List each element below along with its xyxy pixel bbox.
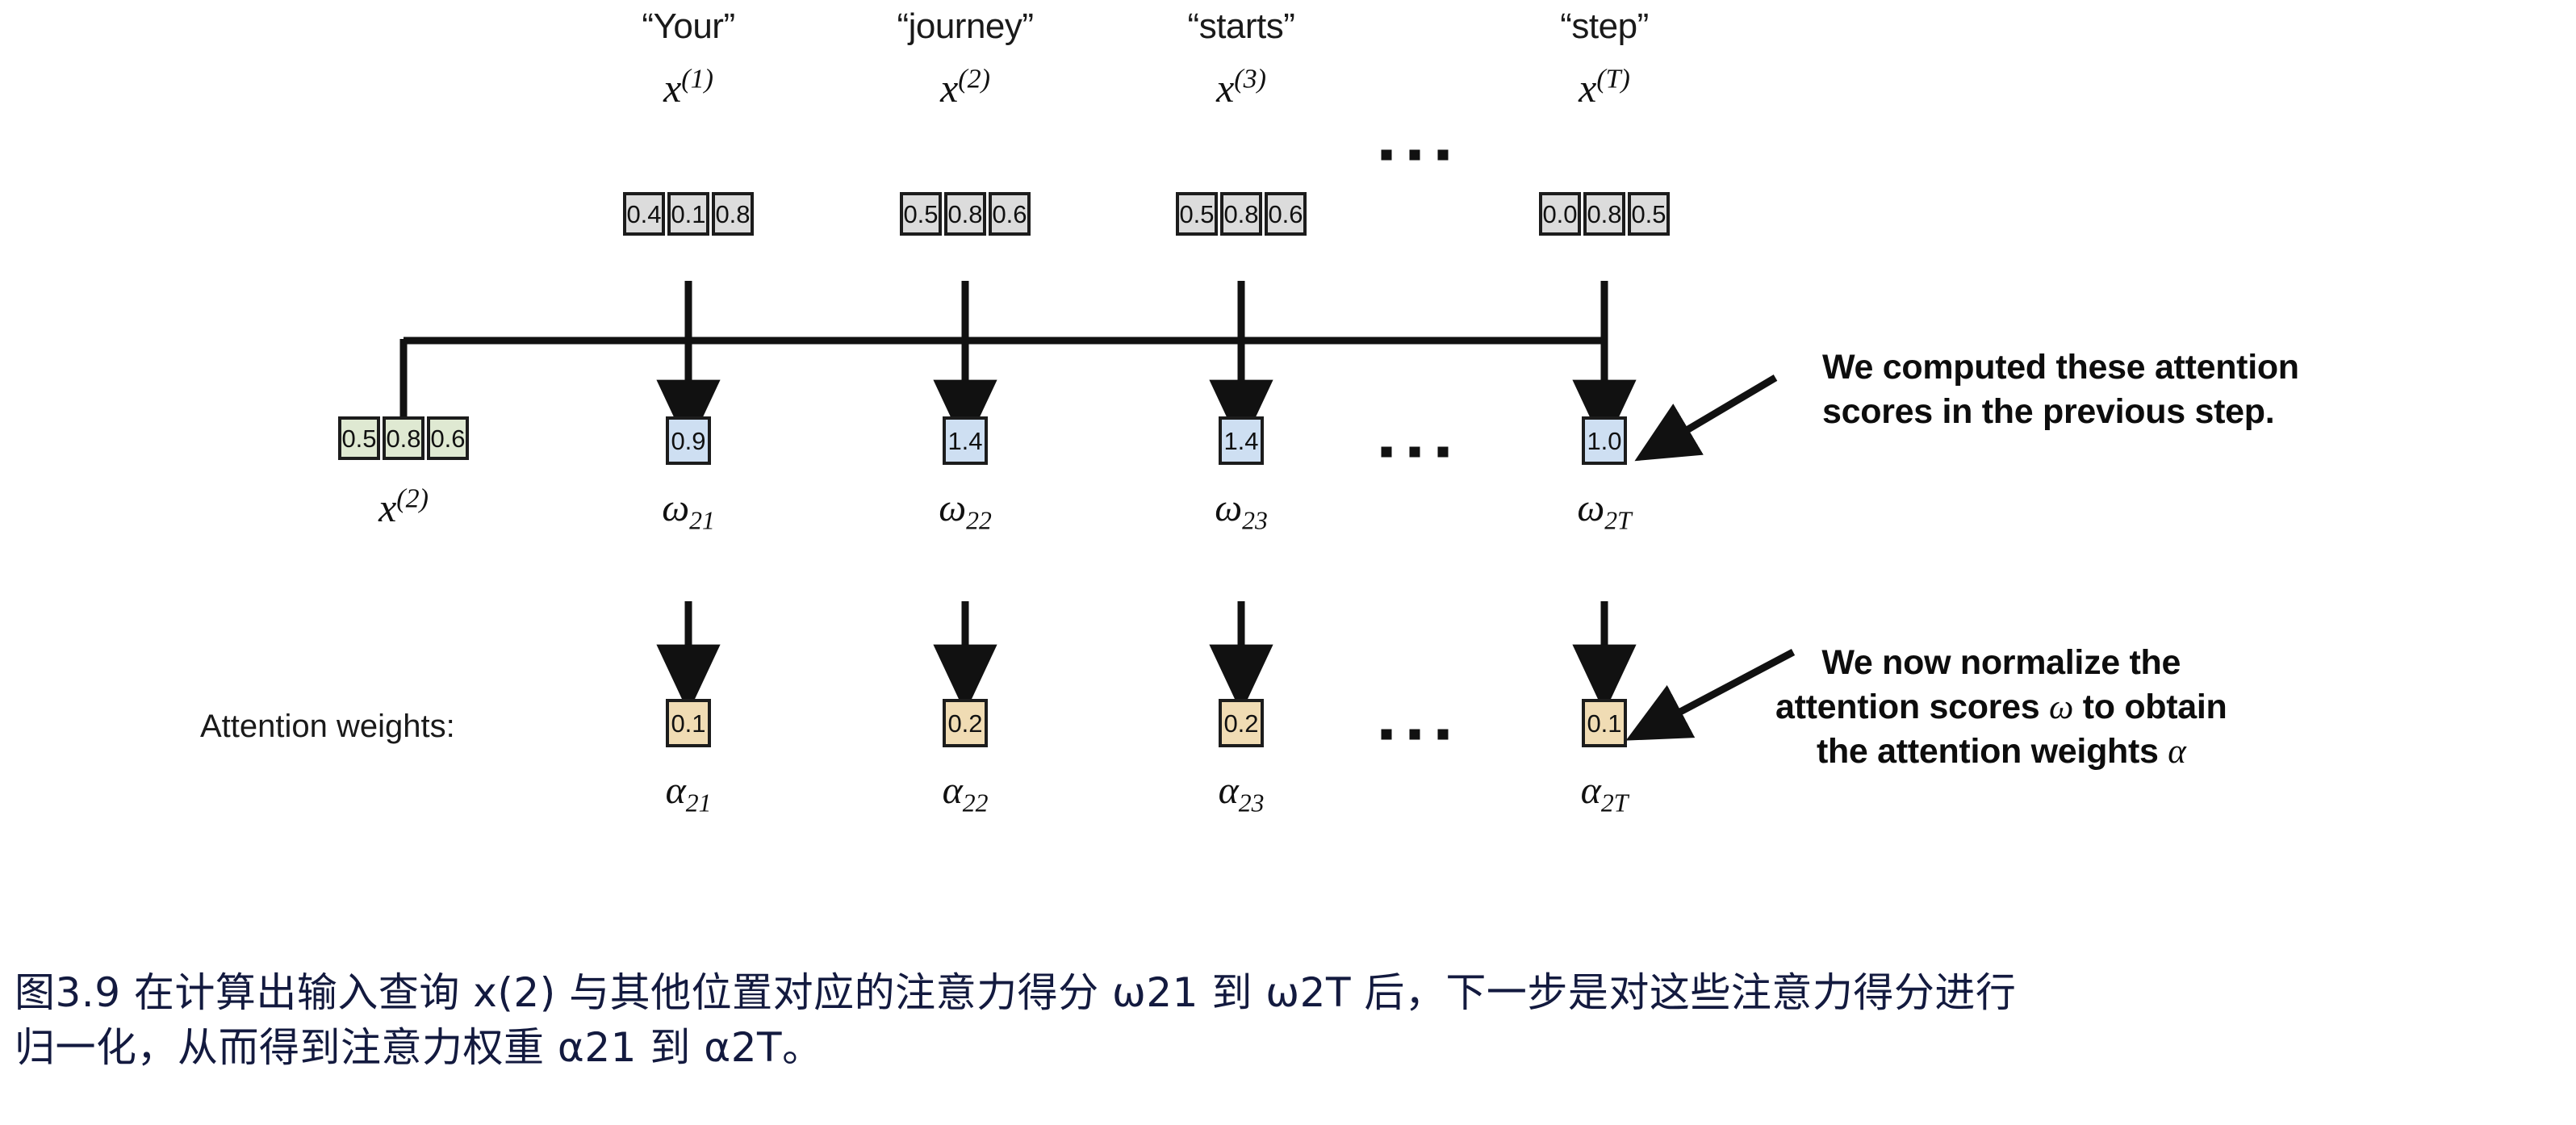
score-box-2: 1.4	[943, 416, 988, 465]
input-cell: 0.1	[667, 192, 709, 236]
annotation-scores-line1: We computed these attention	[1822, 345, 2299, 390]
score-box-4: 1.0	[1582, 416, 1627, 465]
ellipsis-dot	[1382, 730, 1392, 740]
input-vector-3: 0.5 0.8 0.6	[1176, 192, 1307, 236]
ellipsis-dot	[1438, 730, 1449, 740]
score-box-1: 0.9	[666, 416, 711, 465]
annotation-scores-line2: scores in the previous step.	[1822, 390, 2299, 434]
input-cell: 0.6	[1265, 192, 1307, 236]
attention-weights-row-label: Attention weights:	[200, 709, 455, 745]
token-word-1: “Your”	[642, 6, 734, 47]
weight-value: 0.2	[943, 699, 988, 747]
caption-line-2: 归一化，从而得到注意力权重 α21 到 α2T。	[15, 1020, 2565, 1075]
weight-label-2: α22	[943, 768, 989, 813]
weight-value: 0.2	[1219, 699, 1264, 747]
figure-caption: 图3.9 在计算出输入查询 x(2) 与其他位置对应的注意力得分 ω21 到 ω…	[15, 965, 2565, 1075]
score-value: 1.4	[1219, 416, 1264, 465]
alpha-symbol: α	[2168, 733, 2185, 771]
ellipsis-dot	[1438, 150, 1449, 161]
ellipsis-dot	[1410, 447, 1420, 458]
ellipsis-dot	[1382, 150, 1392, 161]
score-label-4: ω2T	[1577, 486, 1631, 530]
input-vector-1: 0.4 0.1 0.8	[623, 192, 754, 236]
annotation-weights-line1: We now normalize the	[1775, 641, 2227, 685]
score-value: 1.0	[1582, 416, 1627, 465]
input-cell: 0.5	[1176, 192, 1218, 236]
ellipsis-dot	[1410, 150, 1420, 161]
annotation-scores-note: We computed these attention scores in th…	[1822, 345, 2299, 434]
query-cell: 0.5	[338, 416, 380, 460]
token-word-3: “starts”	[1188, 6, 1295, 47]
token-symbol-4: x(T)	[1579, 65, 1630, 111]
input-cell: 0.8	[712, 192, 754, 236]
weight-box-3: 0.2	[1219, 699, 1264, 747]
weight-value: 0.1	[666, 699, 711, 747]
token-symbol-1: x(1)	[663, 65, 713, 111]
score-label-3: ω23	[1215, 486, 1268, 530]
score-to-weight-arrows	[688, 601, 1604, 678]
input-cell: 0.8	[1583, 192, 1625, 236]
callout-arrow-weights	[1653, 652, 1793, 726]
input-cell: 0.6	[989, 192, 1031, 236]
ellipsis-dot	[1382, 447, 1392, 458]
ellipsis-dot	[1438, 447, 1449, 458]
annotation-weights-note: We now normalize the attention scores ω …	[1775, 641, 2227, 774]
score-label-2: ω22	[939, 486, 992, 530]
ellipsis-weight-row	[1382, 730, 1449, 740]
input-vector-4: 0.0 0.8 0.5	[1539, 192, 1670, 236]
weight-label-4: α2T	[1581, 768, 1629, 813]
input-cell: 0.8	[1220, 192, 1262, 236]
query-cell: 0.8	[383, 416, 424, 460]
input-cell: 0.5	[1628, 192, 1670, 236]
token-word-4: “step”	[1560, 6, 1648, 47]
ellipsis-score-row	[1382, 447, 1449, 458]
ellipsis-input-row	[1382, 150, 1449, 161]
input-vector-2: 0.5 0.8 0.6	[900, 192, 1031, 236]
token-symbol-2: x(2)	[940, 65, 990, 111]
token-symbol-3: x(3)	[1216, 65, 1266, 111]
token-word-2: “journey”	[897, 6, 1033, 47]
score-label-1: ω21	[662, 486, 715, 530]
score-box-3: 1.4	[1219, 416, 1264, 465]
input-to-score-arrows	[688, 281, 1604, 413]
ellipsis-dot	[1410, 730, 1420, 740]
weight-box-1: 0.1	[666, 699, 711, 747]
query-cell: 0.6	[427, 416, 469, 460]
weight-value: 0.1	[1582, 699, 1627, 747]
weight-label-1: α21	[666, 768, 712, 813]
distribution-bus	[404, 339, 1604, 416]
weight-label-3: α23	[1219, 768, 1265, 813]
query-vector: 0.5 0.8 0.6	[338, 416, 469, 460]
caption-line-1: 图3.9 在计算出输入查询 x(2) 与其他位置对应的注意力得分 ω21 到 ω…	[15, 965, 2565, 1020]
score-value: 0.9	[666, 416, 711, 465]
figure-canvas: “Your” “journey” “starts” “step” x(1) x(…	[0, 0, 2576, 1125]
weight-box-4: 0.1	[1582, 699, 1627, 747]
query-symbol: x(2)	[378, 484, 429, 531]
score-value: 1.4	[943, 416, 988, 465]
input-cell: 0.8	[944, 192, 986, 236]
weight-box-2: 0.2	[943, 699, 988, 747]
input-cell: 0.4	[623, 192, 665, 236]
connector-overlay	[0, 0, 2576, 1125]
callout-arrow-scores	[1661, 378, 1775, 445]
input-cell: 0.0	[1539, 192, 1581, 236]
annotation-weights-line3: the attention weights α	[1775, 730, 2227, 774]
annotation-weights-line2: attention scores ω to obtain	[1775, 685, 2227, 730]
input-cell: 0.5	[900, 192, 942, 236]
omega-symbol: ω	[2049, 688, 2073, 726]
